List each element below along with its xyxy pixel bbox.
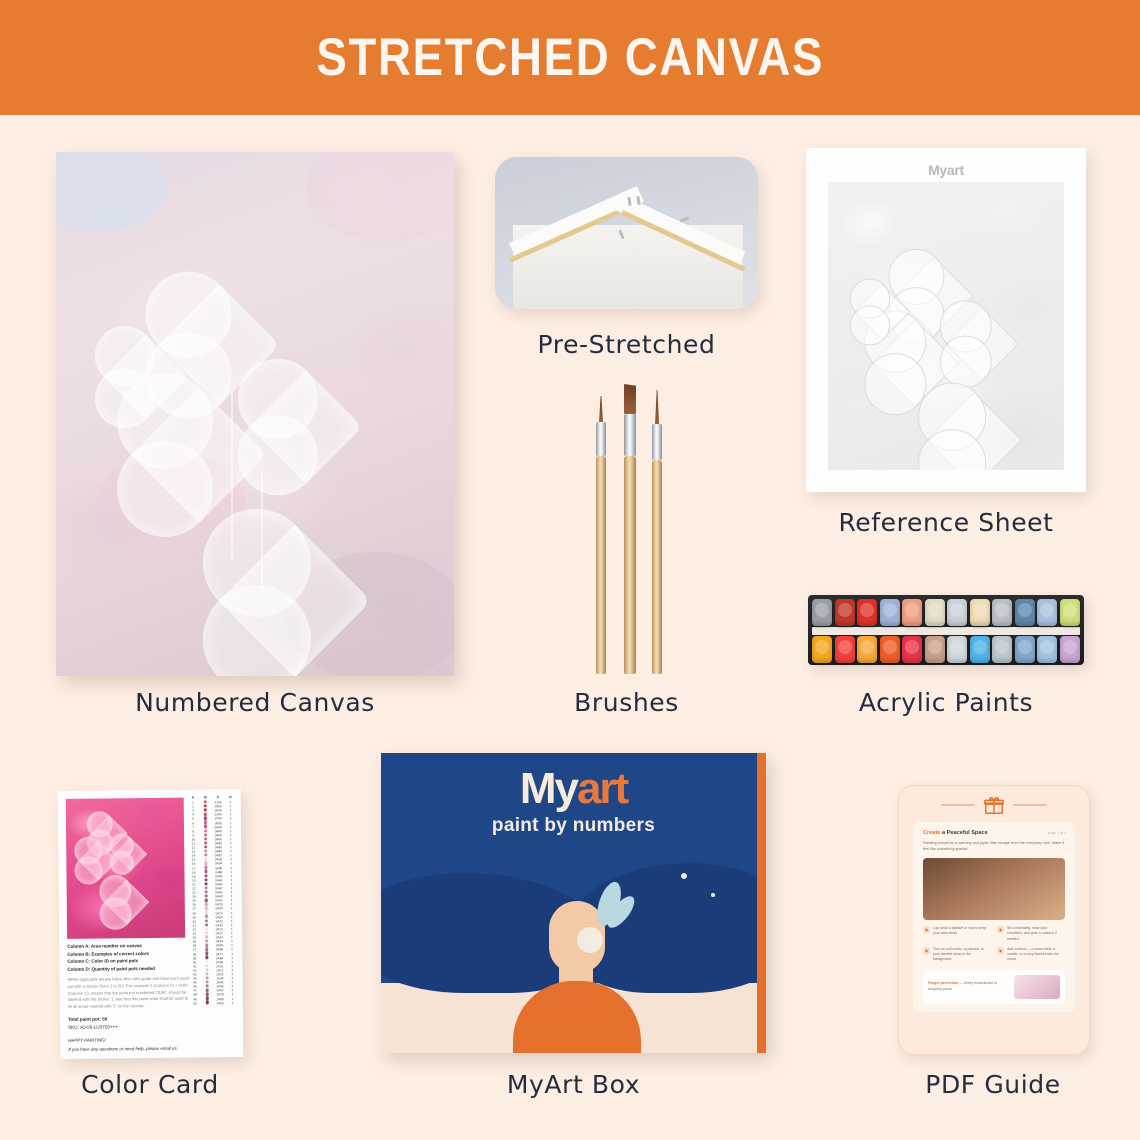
brush-bristles (599, 396, 603, 422)
paint-pot (947, 599, 967, 626)
brush-flat (624, 386, 636, 674)
color-swatch (206, 984, 209, 987)
paint-pot (835, 599, 855, 626)
color-swatch (205, 923, 208, 926)
color-card-legend: Column A: Area number on canvasColumn B:… (67, 942, 189, 974)
tip-item: ◆Add comfort — a warm drink, a candle, o… (997, 947, 1063, 963)
paint-pot (857, 599, 877, 626)
paint-pot (925, 636, 945, 663)
brush-ferrule (652, 424, 662, 460)
divider-left (941, 804, 975, 806)
paint-pot (857, 636, 877, 663)
divider-right (1013, 804, 1047, 806)
color-swatch (206, 1001, 209, 1004)
color-swatch (204, 804, 207, 807)
color-swatch (205, 899, 208, 902)
color-swatch (204, 841, 207, 844)
heading-highlight: Create (923, 830, 940, 836)
caption-pdf-guide: PDF Guide (898, 1070, 1088, 1099)
color-swatch (204, 853, 207, 856)
logo-my-text: My (520, 764, 577, 813)
color-card-table: ABCD 10199120550130036140180150794160055… (187, 795, 240, 1046)
color-swatch (206, 980, 209, 983)
paint-pot (880, 599, 900, 626)
pdf-guide-page-label: page 1 of 1 (1048, 831, 1066, 835)
color-swatch (205, 911, 208, 914)
color-card-happy: HAPPY PAINTING! (68, 1036, 190, 1045)
table-col-header: C (212, 795, 225, 799)
candle-icon: ◆ (997, 947, 1004, 954)
caption-pre-stretched: Pre-Stretched (495, 330, 758, 359)
tip-text: Sit comfortably, relax your shoulders, a… (1007, 926, 1063, 942)
color-swatch (205, 894, 208, 897)
pdf-guide-tips: ◆Lay down a blanket or mat to keep your … (923, 926, 1065, 963)
pdf-guide-image: Create a Peaceful Space page 1 of 1 Pain… (898, 785, 1090, 1055)
color-swatch (205, 944, 208, 947)
brush-bristles (655, 390, 659, 424)
paint-pot (970, 636, 990, 663)
color-swatch (205, 948, 208, 951)
color-card-sku: SKU: xD-50-LU3703+++ (68, 1023, 190, 1032)
box-side-panel (757, 753, 766, 1053)
tip-text: Turn on soft music, a podcast, or your f… (933, 947, 989, 963)
color-swatch (206, 989, 209, 992)
color-card-instructions: When applicable please follow this color… (68, 976, 190, 1010)
table-col-header: B (199, 795, 212, 799)
paint-pot (1060, 636, 1080, 663)
paint-pot (1015, 636, 1035, 663)
balloon-string (261, 472, 263, 592)
myart-box-tagline: paint by numbers (381, 815, 766, 837)
paint-row-bottom (812, 636, 1080, 663)
paint-pot (812, 599, 832, 626)
brush-round-small (596, 408, 606, 674)
caption-color-card: Color Card (40, 1070, 260, 1099)
paint-pot (947, 636, 967, 663)
caption-myart-box: MyArt Box (381, 1070, 766, 1099)
paint-pot (880, 636, 900, 663)
color-swatch (204, 817, 207, 820)
balloon-heart-outline (945, 307, 1019, 381)
color-swatch (206, 993, 209, 996)
page-title: STRETCHED CANVAS (316, 27, 824, 88)
color-swatch (204, 800, 207, 803)
table-col-header: A (187, 795, 200, 799)
brush-bristles (624, 384, 636, 414)
balloon-heart (104, 880, 149, 925)
color-swatch (204, 862, 207, 865)
banner-highlight: Forget perfection (928, 981, 958, 985)
tip-text: Lay down a blanket or mat to keep your a… (933, 926, 989, 942)
banner-image (1014, 975, 1060, 999)
color-swatch (205, 964, 208, 967)
pdf-guide-heading: Create a Peaceful Space (923, 830, 988, 836)
sparkle-dot (681, 873, 687, 879)
pdf-guide-page: Create a Peaceful Space page 1 of 1 Pain… (913, 822, 1075, 1012)
art-blob (56, 152, 166, 232)
color-swatch (205, 886, 208, 889)
brush-handle (624, 456, 636, 674)
paint-pot (1037, 599, 1057, 626)
banner-text: Forget perfection — every brushstroke is… (928, 981, 1009, 992)
brush-ferrule (624, 414, 636, 456)
color-swatch (206, 972, 209, 975)
color-card-contact: If you have any questions or need help, … (68, 1044, 190, 1053)
gift-icon (983, 794, 1005, 816)
caption-reference-sheet: Reference Sheet (806, 508, 1086, 537)
pre-stretched-image (495, 157, 758, 309)
reference-sheet-artwork (828, 182, 1064, 470)
color-card-image: ABCD 10199120550130036140180150794160055… (58, 789, 244, 1059)
numbered-canvas-image (56, 152, 454, 676)
color-card-table-header: ABCD (187, 795, 237, 800)
brush-round-liner (652, 392, 662, 674)
color-card-photo (66, 798, 185, 939)
color-card-table-body: 10199120550130036140180150794160055170AA… (187, 800, 239, 1005)
color-swatch (204, 808, 207, 811)
paint-pot (1015, 599, 1035, 626)
color-swatch (204, 866, 207, 869)
cushion-icon: ◆ (997, 926, 1004, 933)
color-swatch (204, 845, 207, 848)
tip-item: ◆Sit comfortably, relax your shoulders, … (997, 926, 1063, 942)
tip-item: ◆Turn on soft music, a podcast, or your … (923, 947, 989, 963)
color-swatch (205, 952, 208, 955)
tip-text: Add comfort — a warm drink, a candle, or… (1007, 947, 1063, 963)
paint-pot (970, 599, 990, 626)
color-swatch (204, 813, 207, 816)
tip-item: ◆Lay down a blanket or mat to keep your … (923, 926, 989, 942)
page-header: STRETCHED CANVAS (0, 0, 1140, 115)
brush-handle (652, 460, 662, 674)
color-swatch (205, 903, 208, 906)
color-swatch (204, 829, 207, 832)
color-swatch (204, 833, 207, 836)
myart-box-image: Myart paint by numbers (381, 753, 766, 1053)
paint-pot (1037, 636, 1057, 663)
art-blob (306, 152, 454, 242)
staple-icon (680, 217, 689, 223)
paint-pot (902, 636, 922, 663)
cell-color-swatch (201, 1001, 214, 1006)
cell-color-id: 1A90 (214, 1001, 227, 1005)
color-swatch (205, 935, 208, 938)
color-swatch (205, 939, 208, 942)
color-swatch (205, 931, 208, 934)
color-swatch (205, 960, 208, 963)
acrylic-paints-image (808, 595, 1084, 665)
pdf-guide-photo (923, 858, 1065, 920)
color-swatch (206, 997, 209, 1000)
color-swatch (204, 825, 207, 828)
paint-tray-label-strip (812, 627, 1080, 635)
table-row: 501A901 (189, 1001, 239, 1006)
myart-box-logo: Myart (381, 767, 766, 811)
color-swatch (204, 858, 207, 861)
color-swatch (204, 849, 207, 852)
heading-rest: a Peaceful Space (940, 830, 987, 836)
color-swatch (205, 907, 208, 910)
flower-decoration (577, 927, 603, 953)
color-swatch (205, 890, 208, 893)
cell-area-number: 50 (189, 1001, 202, 1005)
balloon-heart-outline (926, 392, 1022, 470)
reference-sheet-logo: Myart (806, 162, 1086, 178)
brushes-image (592, 386, 670, 674)
paint-pot (925, 599, 945, 626)
logo-art-text: art (577, 764, 627, 813)
color-swatch (205, 882, 208, 885)
color-swatch (204, 821, 207, 824)
caption-acrylic-paints: Acrylic Paints (806, 688, 1086, 717)
paint-pot (992, 599, 1012, 626)
paint-pot (812, 636, 832, 663)
color-card-text: Column A: Area number on canvasColumn B:… (67, 942, 190, 1053)
pdf-guide-intro: Painting should be a calming and joyful … (923, 841, 1065, 853)
color-swatch (206, 976, 209, 979)
paint-row-top (812, 599, 1080, 626)
caption-brushes: Brushes (495, 688, 758, 717)
color-swatch (205, 956, 208, 959)
color-swatch (205, 915, 208, 918)
canvas-artwork (56, 152, 454, 676)
pdf-guide-banner: Forget perfection — every brushstroke is… (923, 970, 1065, 1004)
paint-pot (1060, 599, 1080, 626)
table-col-header: D (224, 795, 237, 799)
color-swatch (205, 927, 208, 930)
paint-pot (835, 636, 855, 663)
balloon-heart (113, 837, 147, 871)
color-swatch (205, 919, 208, 922)
color-swatch (204, 837, 207, 840)
color-swatch (205, 874, 208, 877)
reference-sheet-image: Myart (806, 148, 1086, 492)
balloon-string (231, 392, 233, 562)
brush-handle (596, 456, 606, 674)
gift-header-row (899, 794, 1089, 816)
lamp-icon: ◆ (923, 926, 930, 933)
paint-pot (992, 636, 1012, 663)
legend-line: Column D: Quantity of paint pots needed (67, 964, 189, 973)
color-swatch (204, 870, 207, 873)
color-swatch (205, 878, 208, 881)
brush-ferrule (596, 422, 606, 456)
caption-numbered-canvas: Numbered Canvas (56, 688, 454, 717)
sparkle-dot (711, 893, 715, 897)
paint-pot (902, 599, 922, 626)
balloon-heart (249, 370, 362, 483)
cell-quantity: 1 (226, 1001, 239, 1005)
color-swatch (206, 968, 209, 971)
music-icon: ◆ (923, 947, 930, 954)
